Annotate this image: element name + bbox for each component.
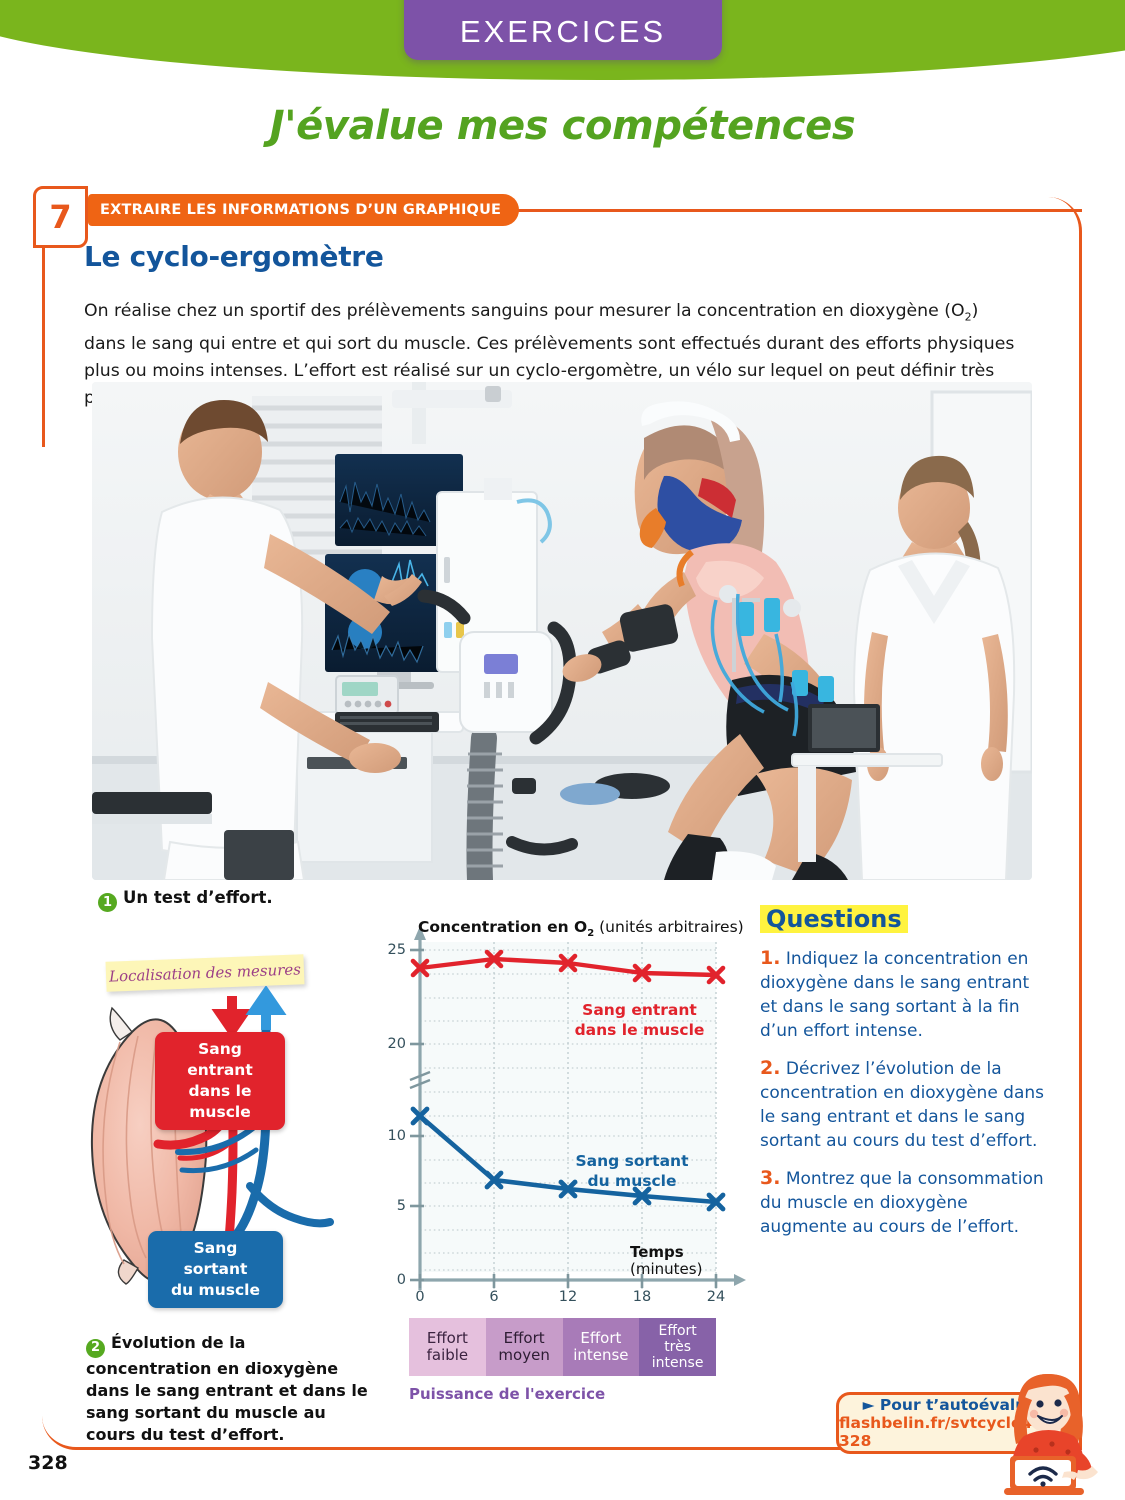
series-label-blood-leaving: Sang sortant du muscle — [572, 1151, 692, 1191]
effort-band-intense-line2: intense — [573, 1347, 628, 1365]
chart-caption: 2Évolution de la concentration en dioxyg… — [86, 1332, 376, 1446]
x-tick-12: 12 — [555, 1289, 581, 1305]
mascot-illustration — [1000, 1370, 1118, 1495]
chart-y-axis-title-rest: (unités arbitraires) — [594, 918, 744, 936]
series-label-blood-entering-line1: Sang entrant — [572, 1000, 707, 1020]
effort-band-moyen: Effort moyen — [486, 1318, 563, 1376]
chart-x-axis-title: Temps (minutes) — [630, 1244, 702, 1278]
effort-band-intense: Effort intense — [563, 1318, 640, 1376]
photo-caption: 1Un test d’effort. — [98, 888, 273, 912]
sticky-note-label: Localisation des mesures — [109, 960, 302, 985]
chart-x-axis-title-bold: Temps — [630, 1243, 684, 1261]
chart-caption-number: 2 — [86, 1339, 105, 1358]
effort-band-faible: Effort faible — [409, 1318, 486, 1376]
questions-title-wrapper: Questions — [760, 905, 1050, 933]
exercises-tab[interactable]: EXERCICES — [404, 0, 722, 60]
effort-band-moyen-line2: moyen — [498, 1347, 549, 1365]
question-item-1: 1. Indiquez la concentration en dioxygèn… — [760, 946, 1050, 1043]
page-header-band: EXERCICES — [0, 0, 1125, 110]
effort-band-faible-line1: Effort — [427, 1330, 468, 1348]
page-title: J'évalue mes compétences — [0, 103, 1125, 149]
exercise-tag-rule — [500, 209, 1082, 212]
x-tick-18: 18 — [629, 1289, 655, 1305]
effort-band-tres-intense-line1: Effort — [658, 1323, 696, 1339]
chart-y-axis-title: Concentration en O2 (unités arbitraires) — [418, 918, 744, 939]
label-blood-leaving-line2: du muscle — [160, 1280, 271, 1301]
exercise-title: Le cyclo-ergomètre — [84, 240, 384, 273]
chart-caption-text: Évolution de la concentration en dioxygè… — [86, 1333, 368, 1444]
y-tick-10: 10 — [380, 1128, 406, 1144]
question-3-number: 3. — [760, 1167, 780, 1189]
question-2-text: Décrivez l’évolution de la concentration… — [760, 1059, 1044, 1151]
effort-band-tres-intense-line2: très — [664, 1339, 691, 1355]
question-1-text: Indiquez la concentration en dioxygène d… — [760, 949, 1029, 1041]
series-label-blood-leaving-line1: Sang sortant — [572, 1151, 692, 1171]
photo-illustration — [92, 382, 1032, 880]
x-tick-0: 0 — [407, 1289, 433, 1305]
effort-bands-row: Effort faible Effort moyen Effort intens… — [409, 1318, 716, 1376]
exercise-number: 7 — [49, 198, 71, 236]
series-label-blood-entering: Sang entrant dans le muscle — [572, 1000, 707, 1040]
question-item-3: 3. Montrez que la consommation du muscle… — [760, 1166, 1050, 1239]
effort-band-faible-line2: faible — [427, 1347, 469, 1365]
y-tick-0: 0 — [380, 1272, 406, 1288]
chart-y-axis-title-bold: Concentration en O — [418, 918, 587, 936]
questions-title: Questions — [760, 905, 908, 933]
effort-band-tres-intense-line3: intense — [652, 1355, 704, 1371]
series-label-blood-entering-line2: dans le muscle — [572, 1020, 707, 1040]
label-blood-entering: Sang entrant dans le muscle — [155, 1032, 285, 1130]
intro-subscript: 2 — [965, 311, 972, 324]
exercise-skill-tag-label: EXTRAIRE LES INFORMATIONS D’UN GRAPHIQUE — [100, 202, 501, 218]
photo-caption-number: 1 — [98, 893, 117, 912]
effort-test-photo — [92, 382, 1032, 880]
page-number: 328 — [28, 1452, 68, 1474]
photo-caption-text: Un test d’effort. — [123, 888, 273, 907]
effort-band-tres-intense: Effort très intense — [639, 1318, 716, 1376]
exercises-tab-label: EXERCICES — [460, 14, 666, 50]
oxygen-concentration-chart: Concentration en O2 (unités arbitraires) — [382, 908, 754, 1308]
question-3-text: Montrez que la consommation du muscle en… — [760, 1169, 1044, 1237]
y-tick-5: 5 — [380, 1198, 406, 1214]
x-tick-6: 6 — [481, 1289, 507, 1305]
label-blood-leaving-line1: Sang sortant — [160, 1238, 271, 1280]
label-blood-leaving: Sang sortant du muscle — [148, 1231, 283, 1308]
question-2-number: 2. — [760, 1057, 780, 1079]
intro-text-part1: On réalise chez un sportif des prélèveme… — [84, 301, 965, 321]
label-blood-entering-line1: Sang entrant — [167, 1039, 273, 1081]
effort-band-moyen-line1: Effort — [504, 1330, 545, 1348]
question-item-2: 2. Décrivez l’évolution de la concentrat… — [760, 1056, 1050, 1153]
x-tick-24: 24 — [703, 1289, 729, 1305]
chart-x-axis-title-unit: (minutes) — [630, 1260, 702, 1278]
effort-band-intense-line1: Effort — [580, 1330, 621, 1348]
label-blood-entering-line2: dans le muscle — [167, 1081, 273, 1123]
y-tick-25: 25 — [380, 942, 406, 958]
question-1-number: 1. — [760, 947, 780, 969]
series-label-blood-leaving-line2: du muscle — [572, 1171, 692, 1191]
exercise-skill-tag: EXTRAIRE LES INFORMATIONS D’UN GRAPHIQUE — [88, 194, 519, 226]
y-tick-20: 20 — [380, 1036, 406, 1052]
power-axis-label: Puissance de l'exercice — [409, 1385, 605, 1403]
exercise-number-badge: 7 — [33, 186, 88, 248]
questions-panel: Questions 1. Indiquez la concentration e… — [760, 905, 1050, 1239]
